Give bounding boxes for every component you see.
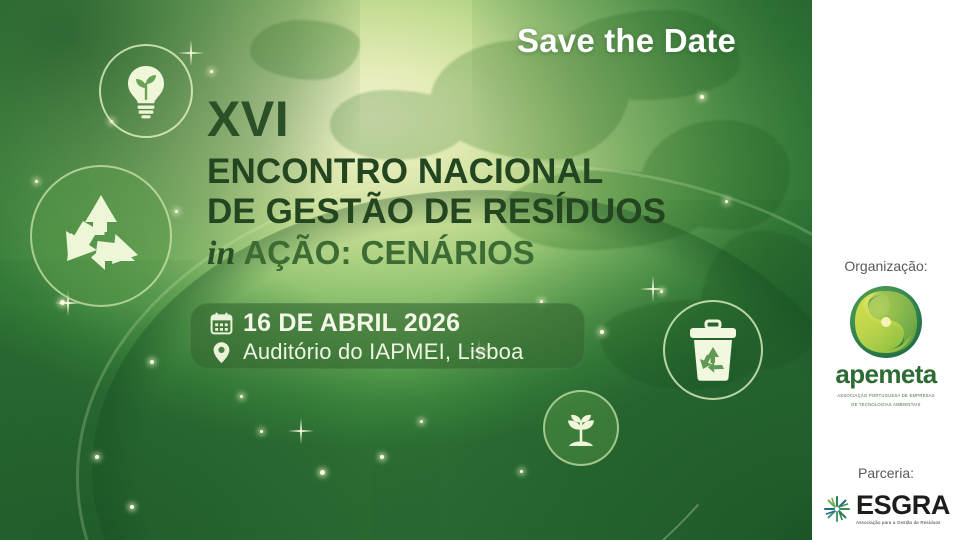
poster-screenshot: Save the Date XVI ENCONTRO NACIONAL DE G… xyxy=(0,0,960,540)
apemeta-sphere-logo xyxy=(847,283,925,361)
lightbulb-leaf-badge xyxy=(99,44,193,138)
sponsor-sidebar: Organização: xyxy=(812,0,960,540)
calendar-icon xyxy=(208,312,234,335)
event-date: 16 DE ABRIL 2026 xyxy=(243,309,460,338)
esgra-subtitle: Associação para a Gestão de Resíduos xyxy=(856,520,950,525)
title-line-2: DE GESTÃO DE RESÍDUOS xyxy=(207,192,666,232)
lightbulb-leaf-icon xyxy=(121,63,171,119)
seedling-icon xyxy=(559,406,603,450)
parceria-label: Parceria: xyxy=(812,465,960,481)
recycle-badge xyxy=(30,165,172,307)
esgra-starburst-logo xyxy=(822,494,852,524)
apemeta-logo-block: apemeta ASSOCIAÇÃO PORTUGUESA DE EMPRESA… xyxy=(812,283,960,409)
date-row: 16 DE ABRIL 2026 xyxy=(208,309,460,338)
title-line-1: ENCONTRO NACIONAL xyxy=(207,152,666,192)
edition-number: XVI xyxy=(207,94,666,144)
event-poster: Save the Date XVI ENCONTRO NACIONAL DE G… xyxy=(0,0,812,540)
esgra-logo-block: ESGRA Associação para a Gestão de Resídu… xyxy=(812,492,960,525)
title-subtitle: in AÇÃO: CENÁRIOS xyxy=(207,234,666,274)
seedling-badge xyxy=(543,390,619,466)
event-location: Auditório do IAPMEI, Lisboa xyxy=(243,339,524,365)
recycle-bin-icon xyxy=(685,319,741,381)
apemeta-subtitle-line-1: ASSOCIAÇÃO PORTUGUESA DE EMPRESAS xyxy=(812,393,960,399)
esgra-wordmark: ESGRA xyxy=(856,492,950,519)
save-the-date-heading: Save the Date xyxy=(517,22,736,60)
location-row: Auditório do IAPMEI, Lisboa xyxy=(208,339,524,365)
subtitle-in-word: in xyxy=(207,235,235,272)
apemeta-subtitle-line-2: DE TECNOLOGIAS AMBIENTAIS xyxy=(812,402,960,408)
recycle-bin-badge xyxy=(663,300,763,400)
date-location-pill: 16 DE ABRIL 2026 Auditório do IAPMEI, Li… xyxy=(190,303,585,369)
event-title-block: XVI ENCONTRO NACIONAL DE GESTÃO DE RESÍD… xyxy=(207,94,666,274)
recycle-icon xyxy=(55,191,147,281)
subtitle-main: AÇÃO: CENÁRIOS xyxy=(243,234,535,271)
esgra-text-block: ESGRA Associação para a Gestão de Resídu… xyxy=(856,492,950,525)
organizacao-label: Organização: xyxy=(812,258,960,274)
apemeta-wordmark: apemeta xyxy=(812,359,960,390)
location-pin-icon xyxy=(208,341,234,364)
